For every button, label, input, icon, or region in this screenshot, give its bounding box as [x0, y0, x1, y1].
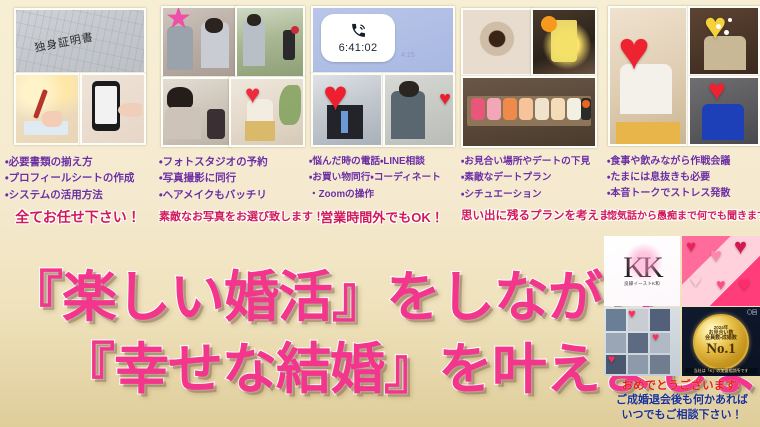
bullet-item: ・本音トークでストレス発散	[607, 186, 757, 202]
closing-line-3: いつでもご相談下さい！	[604, 408, 760, 422]
certificate-title: 独身証明書	[33, 28, 95, 55]
photo-column-consultation: 6:41:02 4:15 ♥ ♥	[305, 0, 455, 152]
text-block-date-planning: ・お見合い場所やデートの下見 ・素敵なデートプラン ・シチュエーション 思い出に…	[458, 152, 604, 223]
heart-icon: ♥	[734, 236, 747, 258]
fitting-room-photo: ♥	[383, 73, 455, 147]
heart-icon: ♥	[245, 81, 260, 107]
right-rail: KK 良縁イーストK和 ♥ ♥ ♥ ♥ ♥ ♥ ♥	[604, 236, 760, 427]
heart-icon: ♥	[608, 353, 615, 365]
heart-collage: ♥ ♥ ♥ ♥ ♥ ♥	[682, 236, 760, 306]
bullet-item: ・悩んだ時の電話・LINE相談	[309, 154, 455, 170]
closing-line-2: ご成婚退会後も何かあれば	[604, 393, 760, 407]
medal-tag: 〇回	[747, 309, 757, 316]
heart-icon: ♥	[439, 89, 451, 109]
heart-icon: ♥	[710, 246, 722, 266]
bullet-item: ・お買い物同行・コーディネート	[309, 170, 455, 186]
brand-logo: KK 良縁イーストK和	[604, 236, 680, 306]
ranking-medal: 〇回 2024年 お見合い数 会員数・成婚数 No.1 当社は「K」の加盟相談所…	[682, 307, 760, 376]
heart-icon: ♥	[323, 75, 348, 117]
text-block-documents: ・必要書類の揃え方 ・プロフィールシートの作成 ・システムの活用方法 全てお任せ…	[2, 152, 154, 227]
line-call-screenshot: 6:41:02 4:15	[311, 6, 455, 74]
phone-call-icon	[350, 22, 367, 39]
poster-canvas: 独身証明書	[0, 0, 760, 427]
single-certificate-photo: 独身証明書	[14, 8, 146, 74]
smartphone-photo	[80, 73, 146, 145]
heart-icon: ♥	[652, 331, 659, 343]
headline: 『楽しい婚活』をしながら 『幸せな結婚』を叶えましょう！	[0, 248, 612, 423]
outdoor-shoot-photo	[235, 6, 305, 78]
bullet-item: ・素敵なデートプラン	[461, 170, 601, 186]
star-icon: ★	[165, 8, 192, 34]
bullet-item: ・お見合い場所やデートの下見	[461, 154, 601, 170]
bullet-item: ・フォトスタジオの予約	[159, 154, 303, 170]
bar-member-photo: ♥	[688, 6, 760, 76]
heart-icon: ♥	[686, 238, 696, 255]
medal-coin: 2024年 お見合い数 会員数・成婚数 No.1	[693, 314, 749, 370]
column-tagline: 素敵なお写真をお選び致します！	[159, 208, 303, 224]
bullet-item: ・たまには息抜きも必要	[607, 170, 757, 186]
photo-column-documents: 独身証明書	[0, 0, 155, 152]
medal-rank: No.1	[706, 342, 736, 357]
bullet-item: ・ヘアメイクもバッチリ	[159, 187, 303, 203]
closing-line-1: おめでとうございます♪	[604, 379, 760, 393]
photo-strip: 独身証明書	[0, 0, 760, 152]
closing-message: おめでとうございます♪ ご成婚退会後も何かあれば いつでもご相談下さい！	[604, 379, 760, 422]
text-block-photo-studio: ・フォトスタジオの予約 ・写真撮影に同行 ・ヘアメイクもバッチリ 素敵なお写真を…	[156, 152, 306, 224]
heart-icon: ♥	[738, 274, 750, 295]
heart-icon: ♥	[628, 307, 636, 320]
photo-column-counseling: ♥ ♥ ♥	[600, 0, 760, 152]
blue-outfit-member-photo: ♥	[688, 76, 760, 146]
heart-icon: ♥	[708, 78, 726, 106]
column-tagline: 全てお任せ下さい！	[5, 207, 151, 227]
salon-styling-photo	[161, 77, 231, 147]
sushi-platter-photo	[461, 76, 597, 148]
column-tagline: 思い出に残るプランを考えます！	[461, 207, 601, 223]
coffee-cup-photo	[461, 8, 533, 76]
column-tagline: 営業時間外でもOK！	[309, 207, 455, 226]
bullet-item: ・写真撮影に同行	[159, 170, 303, 186]
medal-caption: 当社は「K」の加盟相談所です	[685, 368, 757, 374]
heart-icon: ♥	[716, 278, 726, 294]
call-timestamp: 4:15	[401, 52, 415, 59]
column-tagline: 惚気話から愚痴まで何でも聞きます！	[607, 207, 757, 222]
call-duration: 6:41:02	[339, 42, 378, 54]
hair-makeup-photo: ★	[161, 6, 237, 78]
bullet-item: ・必要書類の揃え方	[5, 154, 151, 170]
handwriting-photo	[14, 73, 80, 145]
text-block-consultation: ・悩んだ時の電話・LINE相談 ・お買い物同行・コーディネート ・Zoomの操作…	[306, 152, 458, 226]
bullet-item: ・システムの活用方法	[5, 187, 151, 203]
headline-line-1: 『楽しい婚活』をしながら	[8, 252, 656, 332]
suit-portrait-photo: ♥	[311, 73, 383, 147]
bullet-item: ・シチュエーション	[461, 187, 601, 203]
dress-portrait-photo: ♥	[229, 77, 305, 147]
photo-column-date-planning	[455, 0, 600, 152]
rail-collage: KK 良縁イーストK和 ♥ ♥ ♥ ♥ ♥ ♥ ♥	[604, 236, 760, 376]
text-block-counseling: ・食事や飲みながら作戦会議 ・たまには息抜きも必要 ・本音トークでストレス発散 …	[604, 152, 760, 222]
lemonade-photo	[531, 8, 597, 76]
line-call-bubble: 6:41:02	[321, 14, 395, 62]
bullet-item: ・食事や飲みながら作戦会議	[607, 154, 757, 170]
bullet-item: ・プロフィールシートの作成	[5, 170, 151, 186]
member-photo-grid: ♥ ♥ ♥	[604, 307, 680, 376]
cafe-member-photo: ♥	[608, 6, 688, 146]
heart-icon: ♥	[690, 272, 701, 291]
heart-icon: ♥	[618, 24, 650, 78]
photo-column-photo-studio: ★	[155, 0, 305, 152]
bullet-item: ・Zoomの操作	[309, 187, 455, 203]
